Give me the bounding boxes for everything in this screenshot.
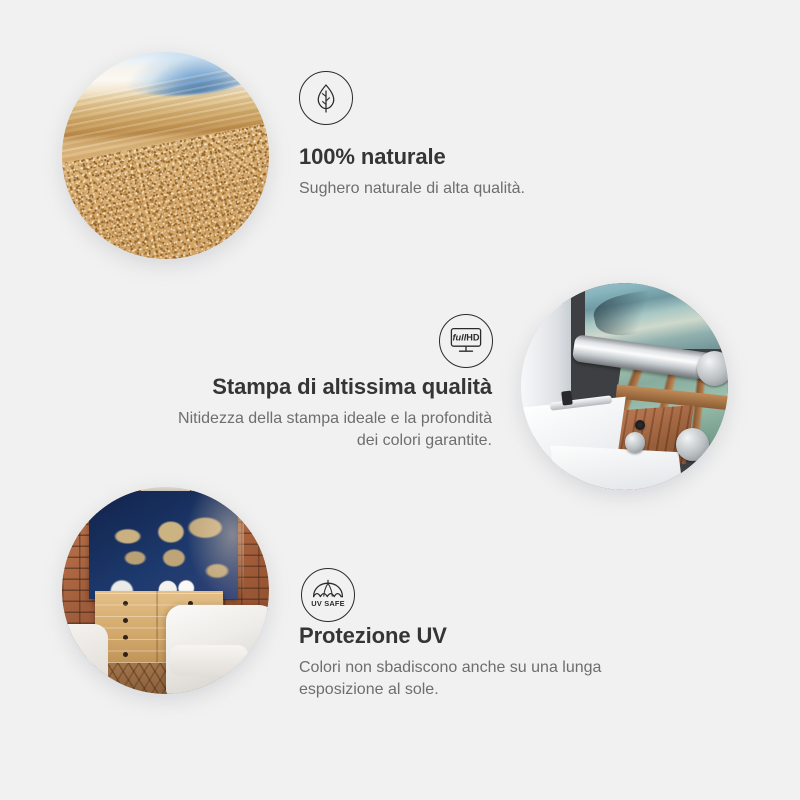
printer-small-bolt <box>635 420 645 430</box>
fullhd-label-full: fullHD <box>452 333 479 343</box>
dresser-knob <box>123 635 128 640</box>
cork-texture-photo <box>62 52 269 259</box>
uv-safe-umbrella-icon: UV SAFE <box>301 568 355 622</box>
fullhd-label-hd: HD <box>466 333 480 343</box>
large-format-printer-photo <box>521 283 728 490</box>
uv-safe-label: UV SAFE <box>311 599 344 608</box>
leaf-icon <box>299 71 353 125</box>
dresser-knob <box>123 652 128 657</box>
feature-natural-text: 100% naturale Sughero naturale di alta q… <box>299 145 639 200</box>
dresser-knob <box>123 601 128 606</box>
armchair-left <box>62 624 108 694</box>
feature-print-title: Stampa di altissima qualità <box>170 375 492 399</box>
armchair-right <box>166 605 270 694</box>
printer-roller-knob-right <box>697 351 728 386</box>
feature-print-subtitle: Nitidezza della stampa ideale e la profo… <box>170 408 492 451</box>
interior-world-map-photo <box>62 487 269 694</box>
feature-highlights-page: 100% naturale Sughero naturale di alta q… <box>0 0 800 800</box>
feature-print-text: Stampa di altissima qualità Nitidezza de… <box>170 375 492 451</box>
dresser-knob <box>123 618 128 623</box>
feature-natural-title: 100% naturale <box>299 145 639 169</box>
fullhd-monitor-icon: fullHD <box>439 314 493 368</box>
printer-spindle-knob <box>625 432 646 453</box>
feature-uv-text: Protezione UV Colori non sbadiscono anch… <box>299 624 689 700</box>
printer-white-base <box>551 445 686 490</box>
feature-natural-subtitle: Sughero naturale di alta qualità. <box>299 178 639 200</box>
feature-uv-title: Protezione UV <box>299 624 689 648</box>
feature-uv-subtitle: Colori non sbadiscono anche su una lunga… <box>299 657 689 700</box>
